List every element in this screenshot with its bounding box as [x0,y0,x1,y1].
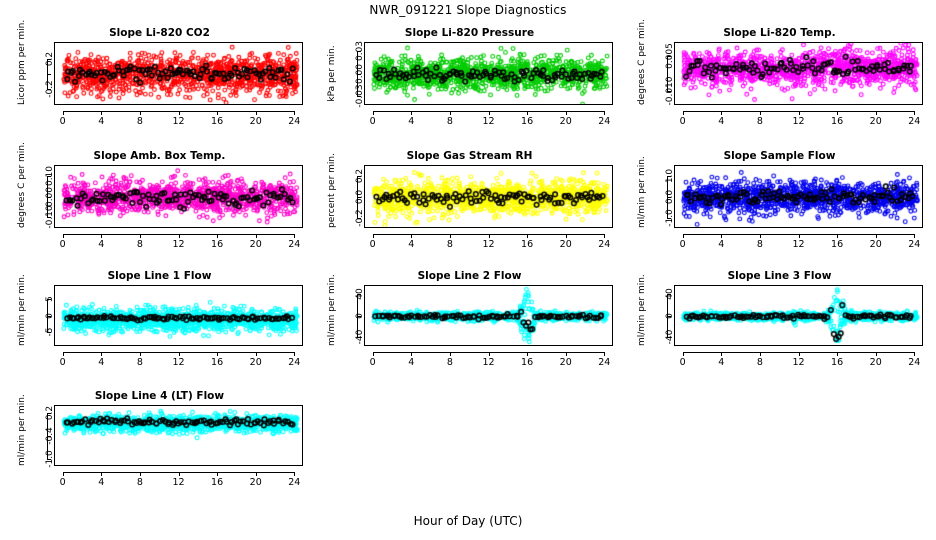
x-tick [256,352,257,356]
x-tick [683,111,684,115]
x-tick [217,472,218,476]
plot-area [54,42,303,105]
scatter-points [55,406,303,466]
x-tick-label: 8 [440,239,460,250]
x-tick [489,352,490,356]
scatter-points [675,166,923,228]
scatter-points [365,286,613,346]
y-axis-label: percent per min. [327,165,337,228]
panel-5: Slope Gas Stream RHpercent per min.04812… [318,150,621,272]
x-tick [683,352,684,356]
x-tick [837,111,838,115]
scatter-points [55,43,303,105]
scatter-points [365,166,613,228]
x-tick-label: 8 [750,116,770,127]
x-tick-label: 24 [594,239,614,250]
plot-area [54,405,303,466]
panel-6: Slope Sample Flowml/min per min.04812162… [628,150,931,272]
x-tick-label: 16 [827,239,847,250]
x-tick [837,352,838,356]
x-tick-label: 8 [440,116,460,127]
panel-4: Slope Amb. Box Temp.degrees C per min.04… [8,150,311,272]
x-tick-label: 12 [169,357,189,368]
x-tick [140,234,141,238]
x-tick [760,352,761,356]
x-tick [63,234,64,238]
y-tick-label: 40 [665,276,675,312]
x-tick-label: 8 [440,357,460,368]
x-tick [799,352,800,356]
x-tick [101,472,102,476]
x-tick-label: 20 [556,116,576,127]
x-tick [876,352,877,356]
x-tick-label: 0 [53,239,73,250]
panel-2: Slope Li-820 PressurekPa per min.0481216… [318,27,621,149]
x-tick-label: 16 [517,116,537,127]
scatter-points [675,43,923,105]
x-tick [256,234,257,238]
plot-area [364,165,613,228]
y-tick-label: 0.005 [665,38,675,74]
x-tick [140,111,141,115]
x-tick-label: 0 [363,239,383,250]
x-tick [140,352,141,356]
x-tick [411,352,412,356]
x-tick-label: 16 [207,239,227,250]
x-tick-label: 4 [91,239,111,250]
x-tick-label: 12 [169,116,189,127]
x-tick [527,111,528,115]
x-tick-label: 24 [284,357,304,368]
x-tick-label: 8 [130,357,150,368]
panel-7: Slope Line 1 Flowml/min per min.04812162… [8,270,311,390]
x-tick-label: 20 [246,116,266,127]
x-tick [179,472,180,476]
x-tick-label: 16 [207,116,227,127]
x-tick-label: 12 [479,239,499,250]
y-tick-label: 0.03 [355,33,365,69]
plot-area [54,285,303,346]
x-tick-label: 0 [673,239,693,250]
x-tick-label: 0 [53,357,73,368]
x-tick-label: 20 [556,357,576,368]
x-tick-label: 20 [866,239,886,250]
x-tick-label: 4 [401,239,421,250]
x-tick [217,234,218,238]
x-tick-label: 20 [246,239,266,250]
x-tick-label: 0 [53,477,73,488]
y-tick-label: -0.010 [665,73,675,109]
x-tick-label: 24 [904,116,924,127]
x-tick-label: 16 [207,357,227,368]
x-tick-label: 16 [207,477,227,488]
y-axis-label: ml/min per min. [17,405,27,466]
x-tick-label: 8 [750,357,770,368]
x-tick-label: 16 [517,239,537,250]
scatter-points [55,166,303,228]
y-axis-label: kPa per min. [327,42,337,105]
x-tick [101,352,102,356]
x-tick [914,234,915,238]
x-tick [101,234,102,238]
x-tick-label: 8 [750,239,770,250]
x-tick-label: 0 [363,357,383,368]
plot-area [364,42,613,105]
x-tick-label: 0 [673,357,693,368]
x-tick [876,111,877,115]
x-tick-label: 4 [711,239,731,250]
y-tick-label: 0.10 [45,158,55,194]
x-tick-label: 16 [517,357,537,368]
x-tick-label: 12 [479,116,499,127]
x-tick [217,352,218,356]
x-tick [140,472,141,476]
plot-area [674,42,923,105]
x-tick-label: 0 [53,116,73,127]
x-tick [179,111,180,115]
x-tick [373,234,374,238]
x-tick-label: 12 [789,116,809,127]
x-tick-label: 24 [904,357,924,368]
figure-x-axis-label: Hour of Day (UTC) [0,514,936,528]
scatter-points [675,286,923,346]
x-tick [63,352,64,356]
x-tick [450,352,451,356]
panel-title: Slope Li-820 CO2 [8,27,311,39]
x-tick-label: 4 [401,116,421,127]
scatter-points [365,43,613,105]
diagnostics-figure: NWR_091221 Slope Diagnostics Hour of Day… [0,0,936,540]
x-tick-label: 4 [91,116,111,127]
x-tick [566,234,567,238]
x-tick [760,111,761,115]
x-tick-label: 20 [246,477,266,488]
x-tick [294,234,295,238]
x-tick-label: 12 [169,239,189,250]
x-tick-label: 12 [789,357,809,368]
x-tick [837,234,838,238]
x-tick-label: 0 [363,116,383,127]
panel-3: Slope Li-820 Temp.degrees C per min.0481… [628,27,931,149]
x-tick [179,352,180,356]
y-axis-label: ml/min per min. [637,165,647,228]
x-tick [721,111,722,115]
x-tick [256,111,257,115]
x-tick-label: 12 [789,239,809,250]
x-tick [489,111,490,115]
x-tick-label: 24 [284,239,304,250]
y-tick-label: 40 [355,276,365,312]
plot-area [364,285,613,346]
x-tick [294,472,295,476]
x-tick [256,472,257,476]
x-tick-label: 12 [169,477,189,488]
x-tick [411,234,412,238]
x-tick-label: 24 [284,477,304,488]
x-tick-label: 4 [711,116,731,127]
x-tick-label: 4 [401,357,421,368]
x-tick [527,234,528,238]
x-tick [63,111,64,115]
panel-1: Slope Li-820 CO2Licor ppm per min.048121… [8,27,311,149]
y-axis-label: Licor ppm per min. [17,42,27,105]
figure-main-title: NWR_091221 Slope Diagnostics [0,3,936,17]
x-tick-label: 12 [479,357,499,368]
x-tick-label: 4 [711,357,731,368]
x-tick-label: 24 [904,239,924,250]
x-tick-label: 16 [827,116,847,127]
x-tick [294,111,295,115]
x-tick [914,111,915,115]
x-tick [604,234,605,238]
x-tick [799,234,800,238]
y-axis-label: ml/min per min. [327,285,337,346]
x-tick [63,472,64,476]
x-tick [721,352,722,356]
y-tick-label: 5 [45,281,55,317]
x-tick-label: 8 [130,116,150,127]
x-tick-label: 20 [866,116,886,127]
x-tick [489,234,490,238]
x-tick [683,234,684,238]
x-tick [721,234,722,238]
x-tick [450,234,451,238]
x-tick [411,111,412,115]
plot-area [674,165,923,228]
panel-8: Slope Line 2 Flowml/min per min.04812162… [318,270,621,390]
x-tick [799,111,800,115]
x-tick-label: 20 [246,357,266,368]
y-axis-label: degrees C per min. [17,165,27,228]
y-tick-label: 1.0 [665,158,675,194]
plot-area [54,165,303,228]
x-tick [604,111,605,115]
x-tick [217,111,218,115]
x-tick [450,111,451,115]
x-tick-label: 20 [866,357,886,368]
y-axis-label: ml/min per min. [637,285,647,346]
x-tick-label: 20 [556,239,576,250]
x-tick-label: 0 [673,116,693,127]
x-tick-label: 24 [594,357,614,368]
x-tick-label: 24 [284,116,304,127]
y-tick-label: 0.2 [45,395,55,431]
x-tick-label: 24 [594,116,614,127]
y-axis-label: degrees C per min. [637,42,647,105]
x-tick [294,352,295,356]
x-tick [373,352,374,356]
x-tick [527,352,528,356]
x-tick-label: 16 [827,357,847,368]
x-tick [373,111,374,115]
x-tick [566,352,567,356]
x-tick-label: 4 [91,477,111,488]
panel-10: Slope Line 4 (LT) Flowml/min per min.048… [8,390,311,510]
y-tick-label: 0.2 [45,41,55,77]
plot-area [674,285,923,346]
x-tick [604,352,605,356]
y-tick-label: 0.2 [355,158,365,194]
x-tick [760,234,761,238]
x-tick-label: 8 [130,477,150,488]
x-tick [179,234,180,238]
x-tick-label: 4 [91,357,111,368]
x-tick [876,234,877,238]
scatter-points [55,286,303,346]
x-tick [101,111,102,115]
x-tick [914,352,915,356]
x-tick-label: 8 [130,239,150,250]
x-tick [566,111,567,115]
y-axis-label: ml/min per min. [17,285,27,346]
panel-9: Slope Line 3 Flowml/min per min.04812162… [628,270,931,390]
